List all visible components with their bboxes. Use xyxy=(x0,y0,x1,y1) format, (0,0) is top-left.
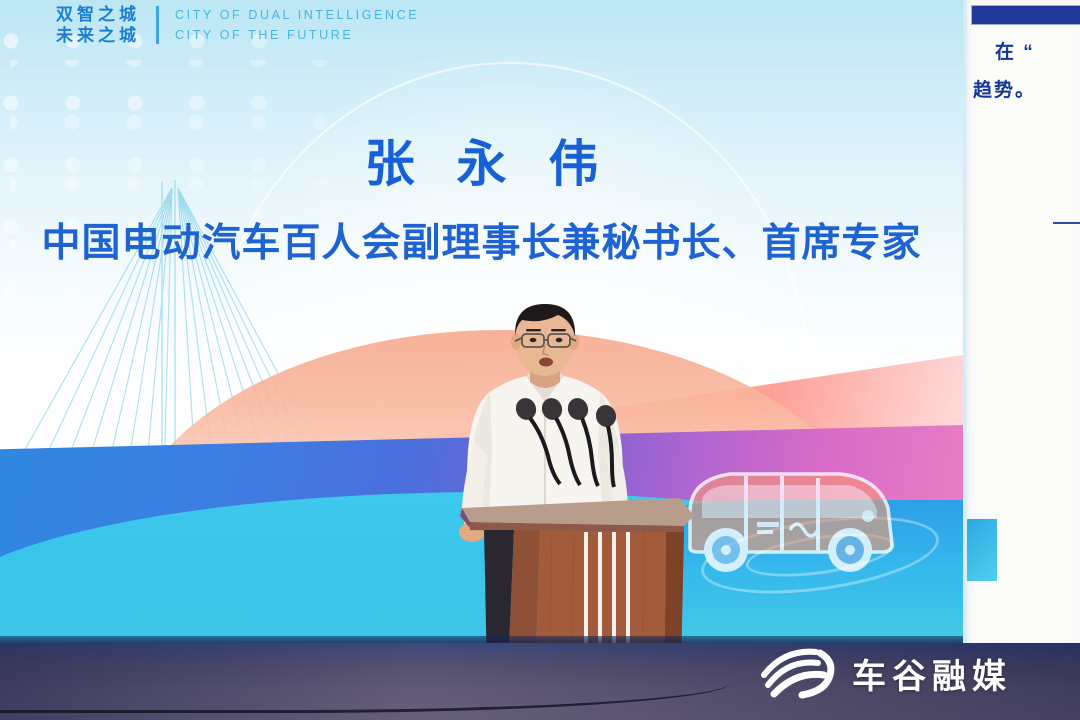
slide-footer-graphic xyxy=(967,519,997,581)
side-presentation-screen: 在 “ 趋势。 xyxy=(967,0,1080,648)
wave-swoosh-logo-icon xyxy=(760,645,838,701)
watermark-text: 车谷融媒 xyxy=(852,649,1012,698)
slide-underline xyxy=(1053,222,1080,224)
brand-cn-line-1: 双智之城 xyxy=(56,4,140,25)
autonomous-shuttle-bus-icon xyxy=(672,452,912,602)
speaker-name: 张 永 伟 xyxy=(0,124,963,196)
brand-en-line-1: CITY OF DUAL INTELLIGENCE xyxy=(175,5,419,25)
event-brand-lockup: 双智之城 未来之城 CITY OF DUAL INTELLIGENCE CITY… xyxy=(56,4,419,46)
slide-text-line-1: 在 “ xyxy=(973,34,1074,72)
media-watermark: 车谷融媒 xyxy=(760,645,1012,701)
conference-stage-photo: 双智之城 未来之城 CITY OF DUAL INTELLIGENCE CITY… xyxy=(0,0,1080,720)
slide-header-bar xyxy=(971,5,1080,25)
brand-chinese-text: 双智之城 未来之城 xyxy=(56,4,140,46)
brand-divider xyxy=(156,6,159,44)
speaker-title: 中国电动汽车百人会副理事长兼秘书长、首席专家 xyxy=(0,212,963,268)
brand-cn-line-2: 未来之城 xyxy=(56,25,140,46)
slide-text-line-2: 趋势。 xyxy=(973,72,1074,110)
brand-en-line-2: CITY OF THE FUTURE xyxy=(175,25,419,45)
floor-cable xyxy=(0,683,730,713)
brand-english-text: CITY OF DUAL INTELLIGENCE CITY OF THE FU… xyxy=(175,5,419,45)
slide-body: 在 “ 趋势。 xyxy=(967,34,1080,110)
